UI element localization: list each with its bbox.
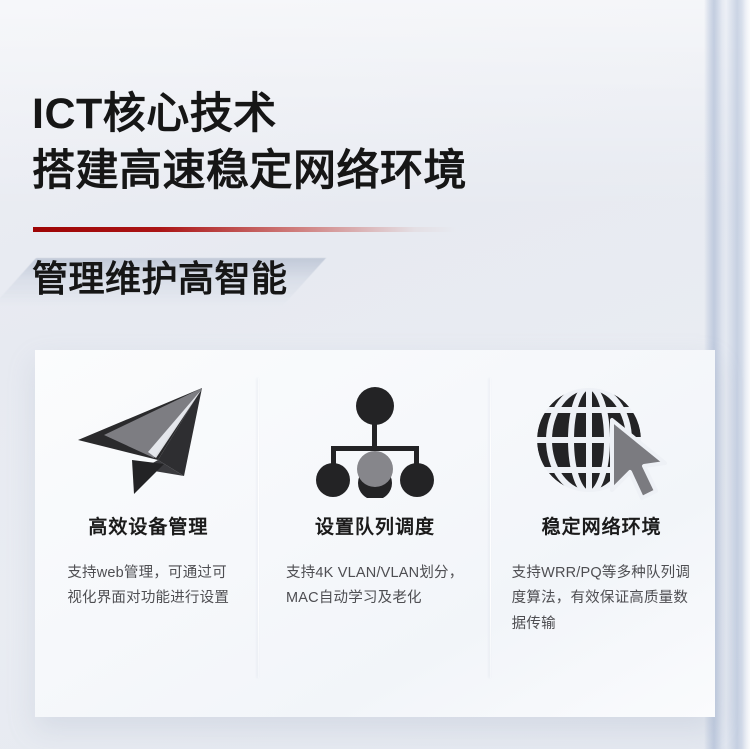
accent-rule — [33, 227, 457, 232]
hero-title: ICT核心技术 搭建高速稳定网络环境 — [32, 86, 467, 200]
hero-subtitle: 管理维护高智能 — [32, 254, 288, 304]
feature-desc: 支持web管理，可通过可视化界面对功能进行设置 — [67, 561, 235, 612]
feature-title: 设置队列调度 — [315, 512, 435, 539]
feature-desc: 支持4K VLAN/VLAN划分，MAC自动学习及老化 — [286, 561, 464, 612]
right-curtain-highlight — [742, 0, 750, 749]
hero-title-line-2: 搭建高速稳定网络环境 — [32, 143, 467, 200]
feature-card-queue-scheduling: 设置队列调度 支持4K VLAN/VLAN划分，MAC自动学习及老化 — [262, 350, 489, 717]
network-tree-icon — [310, 386, 440, 498]
feature-card-device-management: 高效设备管理 支持web管理，可通过可视化界面对功能进行设置 — [35, 350, 262, 717]
feature-card-list: 高效设备管理 支持web管理，可通过可视化界面对功能进行设置 设置队列调度 — [35, 350, 715, 717]
feature-title: 高效设备管理 — [88, 512, 208, 539]
feature-card-stable-network: 稳定网络环境 支持WRR/PQ等多种队列调度算法，有效保证高质量数据传输 — [488, 350, 715, 717]
globe-cursor-icon — [532, 386, 672, 498]
hero-title-line-1: ICT核心技术 — [32, 86, 467, 143]
feature-title: 稳定网络环境 — [542, 512, 662, 539]
hero-subtitle-wrap: 管理维护高智能 — [32, 254, 288, 306]
promo-banner: ICT核心技术 搭建高速稳定网络环境 管理维护高智能 高效设备管理 — [0, 0, 750, 749]
feature-desc: 支持WRR/PQ等多种队列调度算法，有效保证高质量数据传输 — [512, 561, 692, 637]
paper-plane-icon — [72, 386, 224, 498]
